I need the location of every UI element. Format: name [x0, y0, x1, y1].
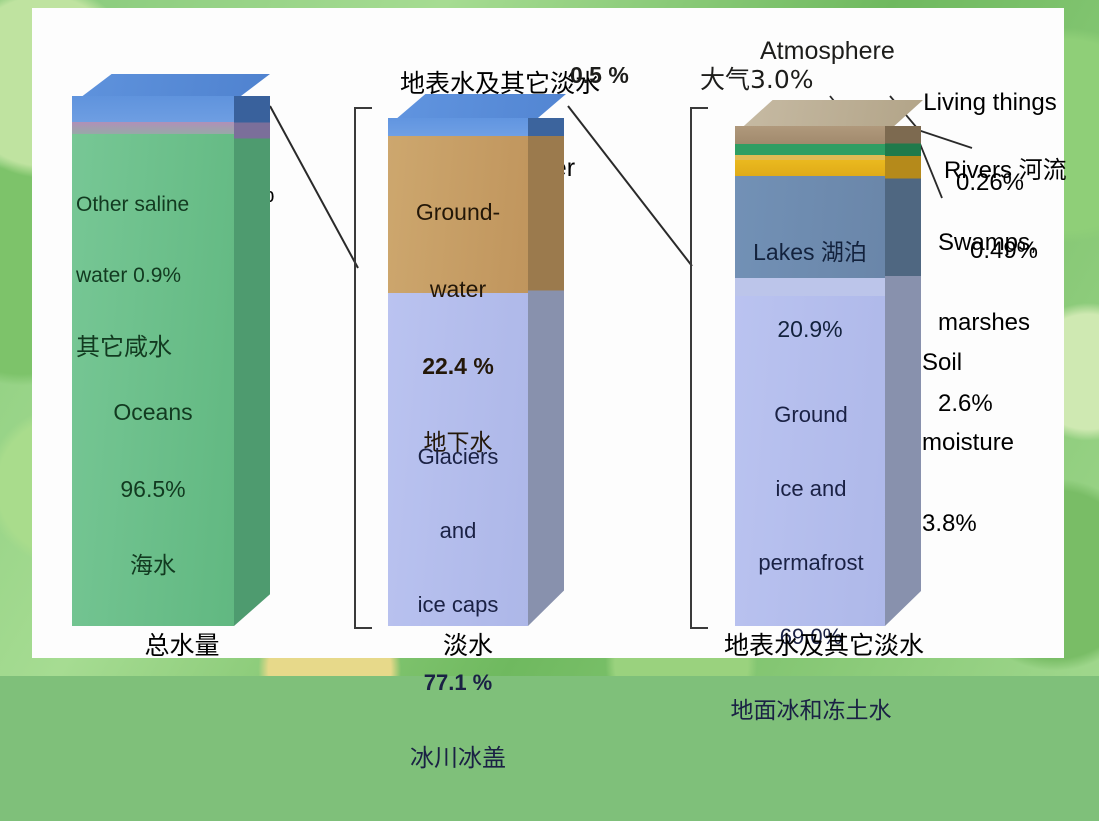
segment-atmosphere-col3 — [735, 126, 885, 144]
bar-total-water: Other saline water 0.9% 其它咸水 Oceans 96.5… — [72, 96, 234, 626]
label-glaciers-value: 77.1 % — [388, 671, 528, 696]
callout-soil-moisture-l3: 3.8% — [922, 511, 1054, 538]
callout-atmosphere-en: Atmosphere — [760, 38, 895, 65]
label-glaciers-l3: ice caps — [388, 593, 528, 618]
bar-freshwater: Ground- water 22.4 % 地下水 Glaciers and ic… — [388, 118, 528, 626]
label-groundwater-value: 22.4 % — [388, 354, 528, 380]
caption-surface-other-freshwater: 地表水及其它淡水 — [694, 632, 954, 660]
segment-other-saline-col1 — [72, 122, 234, 134]
label-oceans: Oceans 96.5% 海水 — [72, 348, 234, 631]
label-other-saline-l2: water 0.9% — [76, 264, 252, 288]
bracket-surface-other — [691, 108, 708, 628]
label-oceans-l1: Oceans — [72, 400, 234, 426]
caption-freshwater: 淡水 — [398, 632, 538, 660]
label-groundwater-l1: Ground- — [388, 200, 528, 226]
label-groundwater-l2: water — [388, 277, 528, 303]
label-glaciers-l2: and — [388, 519, 528, 544]
segment-living-things-col3 — [735, 144, 885, 155]
segment-swamps-col3 — [735, 160, 885, 176]
callout-soil-moisture: Soil moisture 3.8% — [922, 296, 1054, 592]
bar-right-side-freshwater — [528, 118, 564, 626]
bar-surface-other-freshwater: Lakes 湖泊 20.9% Ground ice and permafrost… — [735, 126, 885, 626]
label-glaciers: Glaciers and ice caps 77.1 % 冰川冰盖 — [388, 396, 528, 821]
label-glaciers-zh: 冰川冰盖 — [388, 745, 528, 772]
label-ground-ice-l2: ice and — [729, 477, 893, 502]
label-ground-ice-l3: permafrost — [729, 551, 893, 576]
label-ground-ice-zh: 地面冰和冻土水 — [729, 699, 893, 725]
callout-soil-moisture-l2: moisture — [922, 430, 1054, 457]
label-other-saline-l1: Other saline — [76, 193, 252, 217]
label-glaciers-l1: Glaciers — [388, 445, 528, 470]
water-distribution-diagram: 淡水 Freshwater 2.5% Other saline water 0.… — [32, 8, 1064, 658]
segment-surface-other-col2 — [388, 118, 528, 136]
caption-total-water: 总水量 — [92, 632, 272, 660]
label-lakes-l2: 20.9% — [735, 317, 885, 343]
callout-soil-moisture-l1: Soil — [922, 350, 1054, 377]
label-ground-ice-l1: Ground — [729, 403, 893, 428]
label-lakes-l1: Lakes 湖泊 — [735, 240, 885, 266]
label-ground-ice: Ground ice and permafrost 69.0% 地面冰和冻土水 — [729, 354, 893, 774]
label-oceans-l2: 96.5% — [72, 477, 234, 503]
header-surface-other-value: 0.5 % — [570, 63, 629, 88]
label-oceans-zh: 海水 — [72, 554, 234, 580]
segment-freshwater-col1 — [72, 96, 234, 122]
callout-swamps-l1: Swamps, — [938, 230, 1064, 257]
callout-atmosphere-zh: 大气3.0% — [700, 66, 814, 93]
